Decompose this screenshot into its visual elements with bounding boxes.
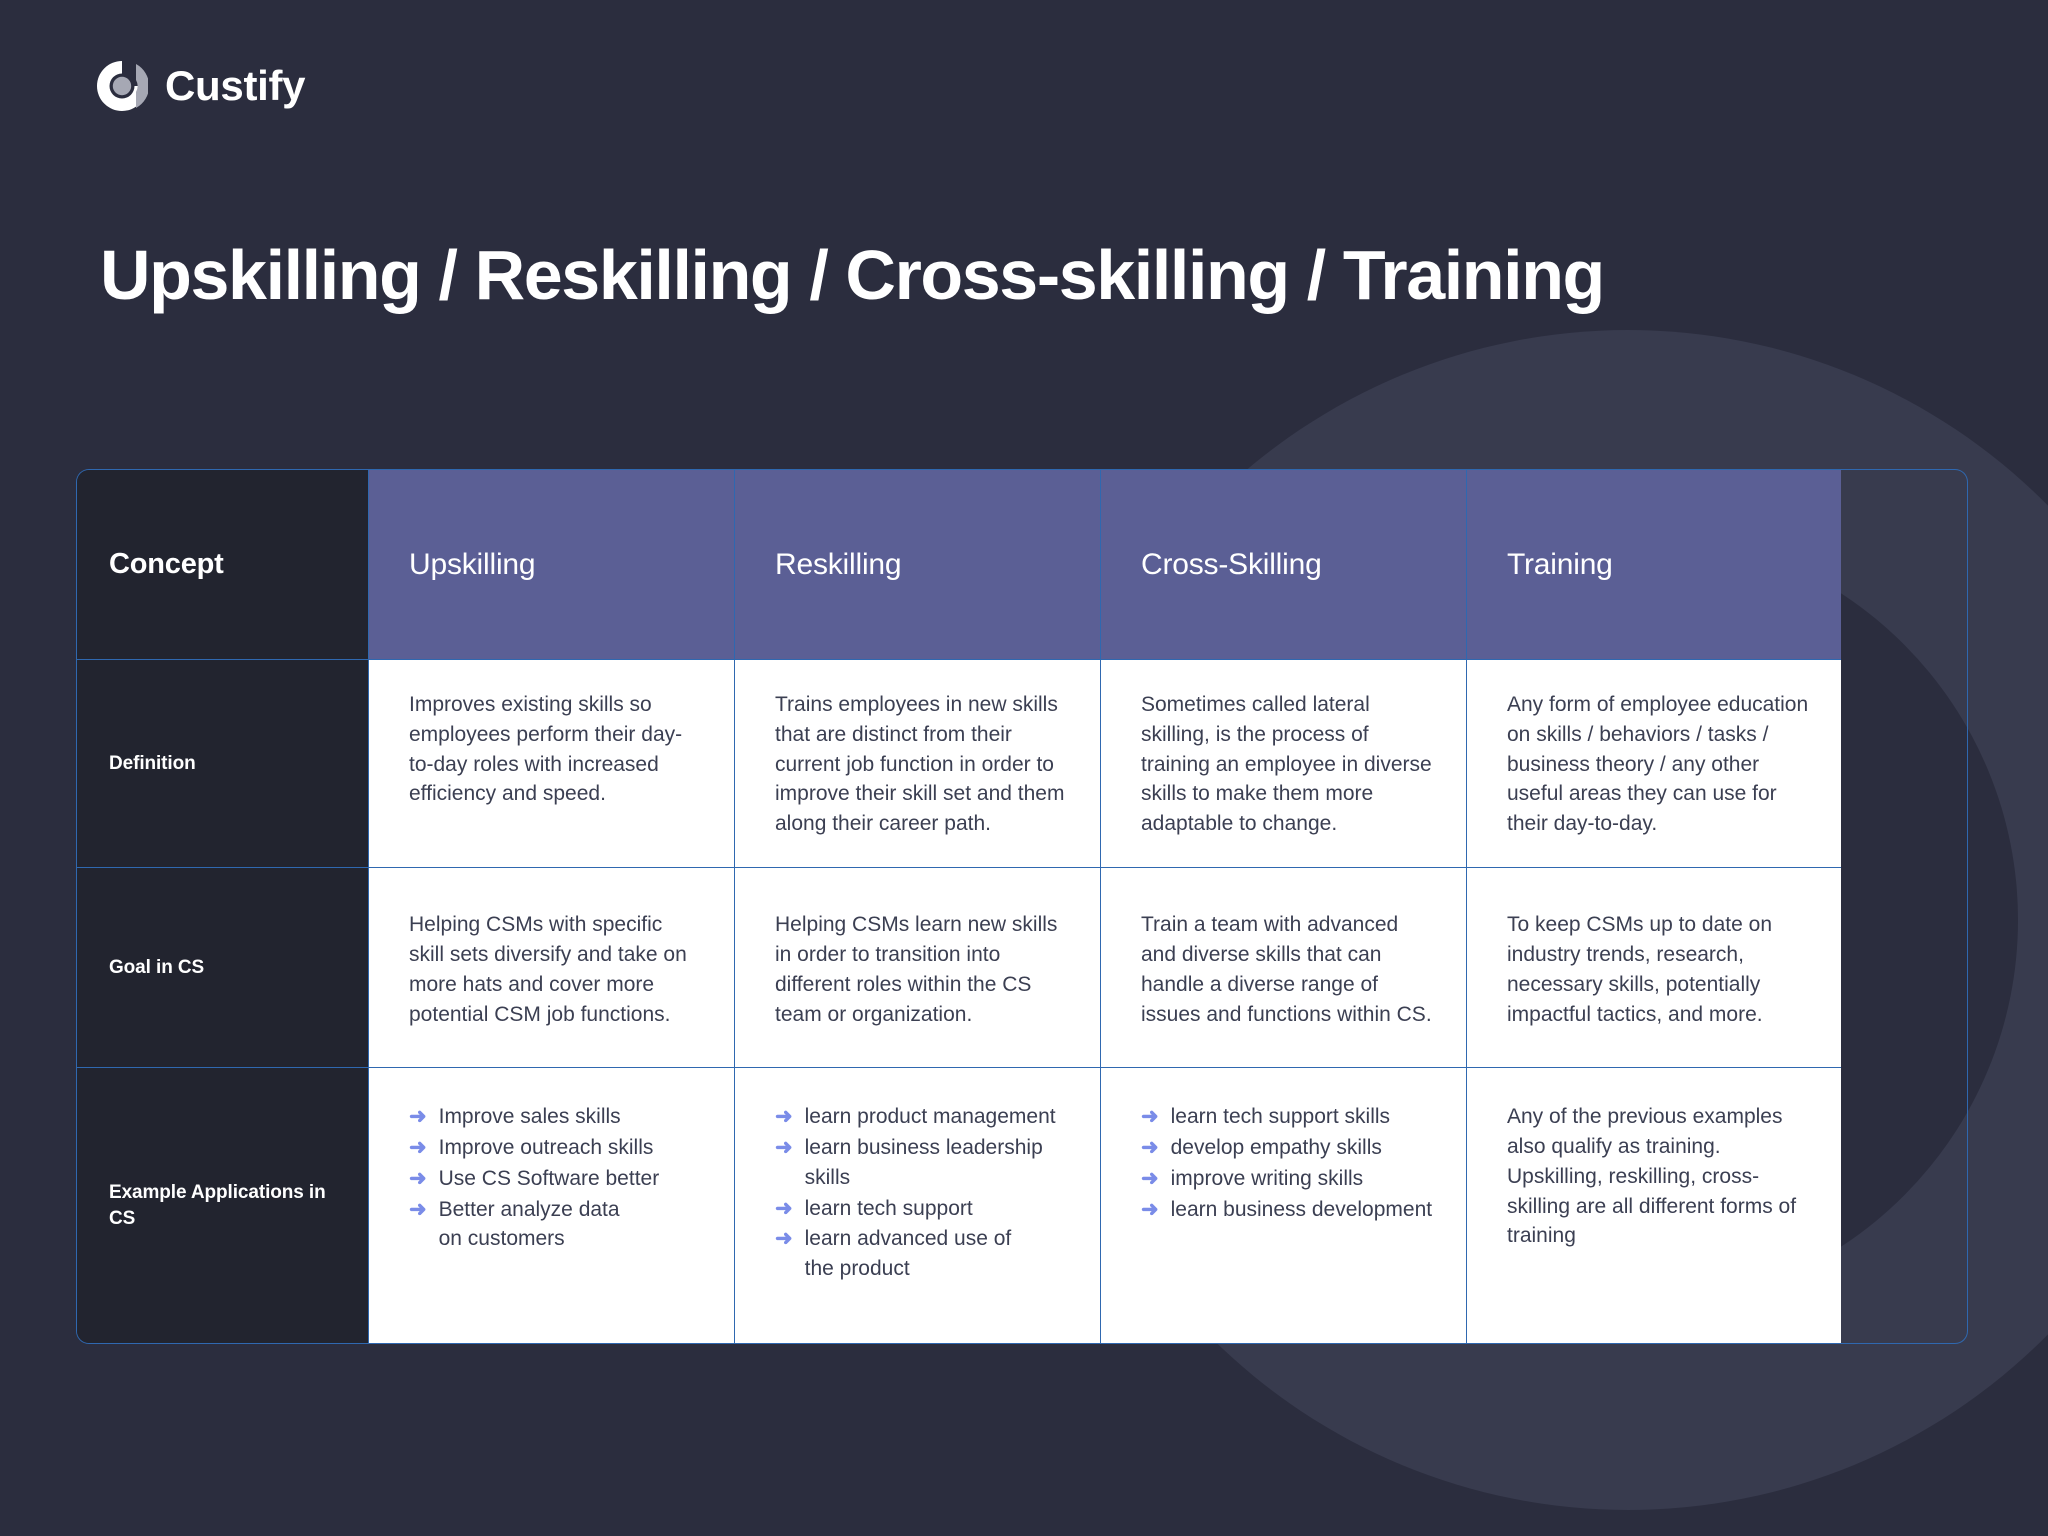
bullet-item-label: learn business development: [1171, 1195, 1433, 1225]
arrow-right-icon: ➜: [409, 1133, 427, 1163]
bullet-list-upskilling: ➜Improve sales skills➜Improve outreach s…: [409, 1102, 702, 1254]
cell-definition-training: Any form of employee education on skills…: [1467, 660, 1841, 868]
row-label-example-applications: Example Applications in CS: [109, 1180, 336, 1231]
bullet-item-label: improve writing skills: [1171, 1164, 1364, 1194]
row-label-cell-goal-in-cs: Goal in CS: [77, 868, 369, 1068]
cell-text: Improves existing skills so employees pe…: [409, 690, 702, 809]
header-cell-concept: Concept: [77, 470, 369, 660]
header-label-concept: Concept: [109, 548, 224, 581]
cell-examples-training: Any of the previous examples also qualif…: [1467, 1068, 1841, 1343]
cell-examples-reskilling: ➜learn product management➜learn business…: [735, 1068, 1101, 1343]
custify-circle-logo-icon: [96, 60, 148, 112]
bullet-item: ➜learn advanced use of the product: [775, 1224, 1068, 1284]
bullet-item: ➜Improve sales skills: [409, 1102, 702, 1132]
arrow-right-icon: ➜: [775, 1194, 793, 1224]
header-label-upskilling: Upskilling: [409, 548, 535, 582]
bullet-item: ➜Improve outreach skills: [409, 1133, 702, 1163]
cell-text: Any form of employee education on skills…: [1507, 690, 1809, 839]
row-label-cell-example-applications: Example Applications in CS: [77, 1068, 369, 1343]
bullet-item-label: Better analyze data on customers: [439, 1195, 620, 1255]
header-cell-upskilling: Upskilling: [369, 470, 735, 660]
cell-text: Helping CSMs learn new skills in order t…: [775, 910, 1068, 1029]
cell-examples-upskilling: ➜Improve sales skills➜Improve outreach s…: [369, 1068, 735, 1343]
bullet-item-label: learn tech support skills: [1171, 1102, 1390, 1132]
cell-definition-cross-skilling: Sometimes called lateral skilling, is th…: [1101, 660, 1467, 868]
bullet-item: ➜learn business development: [1141, 1195, 1434, 1225]
arrow-right-icon: ➜: [409, 1102, 427, 1132]
cell-text: Train a team with advanced and diverse s…: [1141, 910, 1434, 1029]
cell-text: To keep CSMs up to date on industry tren…: [1507, 910, 1809, 1029]
bullet-item-label: learn business leadership skills: [805, 1133, 1068, 1193]
header-label-cross-skilling: Cross-Skilling: [1141, 548, 1322, 582]
arrow-right-icon: ➜: [1141, 1195, 1159, 1225]
bullet-item-label: learn advanced use of the product: [805, 1224, 1012, 1284]
bullet-item: ➜learn business leadership skills: [775, 1133, 1068, 1193]
arrow-right-icon: ➜: [1141, 1102, 1159, 1132]
cell-definition-upskilling: Improves existing skills so employees pe…: [369, 660, 735, 868]
brand-wordmark: Custify: [165, 65, 305, 107]
bullet-item-label: Improve sales skills: [439, 1102, 621, 1132]
bullet-item: ➜improve writing skills: [1141, 1164, 1434, 1194]
arrow-right-icon: ➜: [775, 1224, 793, 1254]
bullet-list-cross-skilling: ➜learn tech support skills➜develop empat…: [1141, 1102, 1434, 1224]
row-label-cell-definition: Definition: [77, 660, 369, 868]
bullet-item: ➜Use CS Software better: [409, 1164, 702, 1194]
table-row-definition: Definition Improves existing skills so e…: [77, 660, 1967, 868]
bullet-item-label: learn product management: [805, 1102, 1056, 1132]
table-header-row: Concept Upskilling Reskilling Cross-Skil…: [77, 470, 1967, 660]
bullet-item-label: Improve outreach skills: [439, 1133, 654, 1163]
arrow-right-icon: ➜: [409, 1164, 427, 1194]
header-label-reskilling: Reskilling: [775, 548, 901, 582]
bullet-item-label: learn tech support: [805, 1194, 973, 1224]
cell-text: Any of the previous examples also qualif…: [1507, 1102, 1809, 1251]
arrow-right-icon: ➜: [409, 1195, 427, 1225]
bullet-item: ➜develop empathy skills: [1141, 1133, 1434, 1163]
cell-text: Helping CSMs with specific skill sets di…: [409, 910, 702, 1029]
bullet-item-label: develop empathy skills: [1171, 1133, 1382, 1163]
page-title: Upskilling / Reskilling / Cross-skilling…: [100, 235, 1604, 315]
cell-goal-cross-skilling: Train a team with advanced and diverse s…: [1101, 868, 1467, 1068]
bullet-item: ➜learn product management: [775, 1102, 1068, 1132]
cell-definition-reskilling: Trains employees in new skills that are …: [735, 660, 1101, 868]
header-cell-cross-skilling: Cross-Skilling: [1101, 470, 1467, 660]
header-cell-reskilling: Reskilling: [735, 470, 1101, 660]
bullet-item: ➜Better analyze data on customers: [409, 1195, 702, 1255]
cell-goal-upskilling: Helping CSMs with specific skill sets di…: [369, 868, 735, 1068]
brand-logo: Custify: [96, 60, 305, 112]
row-label-goal-in-cs: Goal in CS: [109, 955, 204, 981]
table-row-example-applications: Example Applications in CS ➜Improve sale…: [77, 1068, 1967, 1343]
cell-goal-reskilling: Helping CSMs learn new skills in order t…: [735, 868, 1101, 1068]
arrow-right-icon: ➜: [1141, 1164, 1159, 1194]
header-label-training: Training: [1507, 548, 1613, 582]
cell-text: Sometimes called lateral skilling, is th…: [1141, 690, 1434, 839]
arrow-right-icon: ➜: [775, 1102, 793, 1132]
comparison-table: Concept Upskilling Reskilling Cross-Skil…: [77, 470, 1967, 1343]
table-row-goal-in-cs: Goal in CS Helping CSMs with specific sk…: [77, 868, 1967, 1068]
header-cell-training: Training: [1467, 470, 1841, 660]
bullet-item: ➜learn tech support skills: [1141, 1102, 1434, 1132]
arrow-right-icon: ➜: [775, 1133, 793, 1163]
arrow-right-icon: ➜: [1141, 1133, 1159, 1163]
bullet-list-reskilling: ➜learn product management➜learn business…: [775, 1102, 1068, 1284]
bullet-item-label: Use CS Software better: [439, 1164, 660, 1194]
cell-text: Trains employees in new skills that are …: [775, 690, 1068, 839]
bullet-item: ➜learn tech support: [775, 1194, 1068, 1224]
cell-goal-training: To keep CSMs up to date on industry tren…: [1467, 868, 1841, 1068]
row-label-definition: Definition: [109, 751, 196, 777]
cell-examples-cross-skilling: ➜learn tech support skills➜develop empat…: [1101, 1068, 1467, 1343]
